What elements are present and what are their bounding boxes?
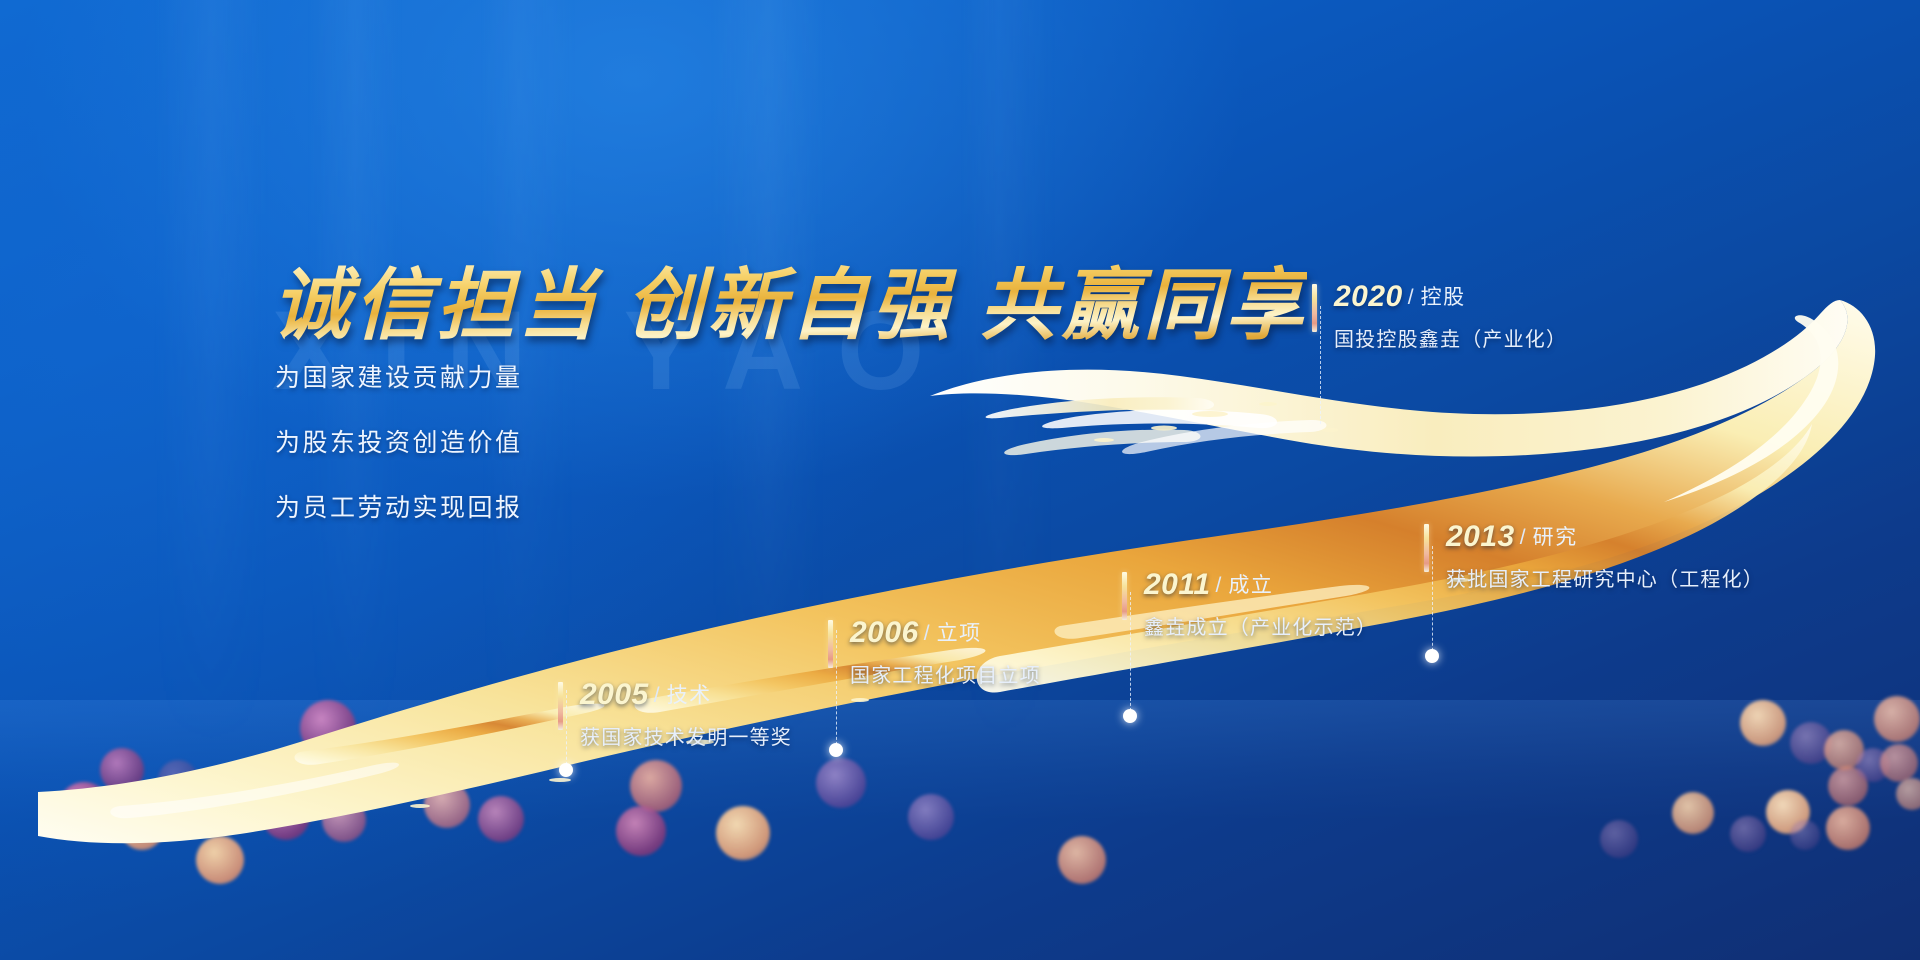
swoosh-upper-tip-fray bbox=[1042, 410, 1277, 429]
milestone-heading: 2011/成立 bbox=[1144, 570, 1377, 600]
bokeh-dot bbox=[616, 806, 666, 856]
slogan-list: 为国家建设贡献力量 为股东投资创造价值 为员工劳动实现回报 bbox=[275, 358, 523, 524]
bokeh-dot bbox=[1896, 778, 1920, 810]
bokeh-dot bbox=[716, 806, 770, 860]
swoosh-upper-tip-fray bbox=[986, 397, 1214, 418]
milestone-kind: 成立 bbox=[1228, 574, 1273, 597]
bokeh-dot bbox=[1730, 816, 1766, 852]
bokeh-dot bbox=[450, 742, 492, 784]
milestone-accent-bar bbox=[1122, 572, 1127, 620]
bokeh-dot bbox=[1824, 730, 1864, 770]
bokeh-dot bbox=[322, 798, 366, 842]
bokeh-dot bbox=[330, 738, 384, 792]
milestone-accent-bar bbox=[1312, 284, 1317, 332]
milestone-separator: / bbox=[924, 622, 930, 645]
swoosh-loop-highlight bbox=[1664, 315, 1838, 502]
milestone-description: 国家工程化项目立项 bbox=[850, 659, 1041, 688]
milestone-kind: 技术 bbox=[667, 684, 712, 707]
milestone-description: 鑫垚成立（产业化示范） bbox=[1144, 611, 1377, 640]
page-title: 诚信担当 创新自强 共赢同享 bbox=[272, 243, 1307, 355]
milestone-accent-bar bbox=[828, 620, 833, 668]
milestone-separator: / bbox=[1408, 286, 1414, 309]
milestone-heading: 2006/立项 bbox=[850, 618, 1041, 648]
milestone-2020[interactable]: 2020/控股 国投控股鑫垚（产业化） bbox=[1312, 282, 1567, 352]
timeline-marker-dot bbox=[1123, 709, 1137, 723]
milestone-description: 获批国家工程研究中心（工程化） bbox=[1446, 563, 1764, 592]
bokeh-dot bbox=[1766, 790, 1810, 834]
bokeh-dot bbox=[1874, 696, 1920, 742]
bokeh-dot bbox=[1600, 820, 1638, 858]
milestone-text-block: 2006/立项 国家工程化项目立项 bbox=[850, 618, 1041, 688]
timeline-marker-dot bbox=[829, 743, 843, 757]
bokeh-dot bbox=[1826, 806, 1870, 850]
milestone-description: 获国家技术发明一等奖 bbox=[580, 721, 792, 750]
milestone-text-block: 2013/研究 获批国家工程研究中心（工程化） bbox=[1446, 522, 1764, 592]
milestone-separator: / bbox=[654, 684, 660, 707]
timeline-marker-dot bbox=[1425, 649, 1439, 663]
swoosh-upper-tip-fray bbox=[1122, 420, 1326, 454]
bokeh-dot bbox=[478, 796, 524, 842]
bokeh-dot bbox=[300, 700, 356, 756]
slogan-line: 为股东投资创造价值 bbox=[275, 423, 523, 459]
milestone-heading: 2013/研究 bbox=[1446, 522, 1764, 552]
bokeh-dot bbox=[1880, 744, 1918, 782]
bokeh-dot bbox=[262, 792, 310, 840]
bokeh-dot bbox=[158, 760, 198, 800]
milestone-year: 2020 bbox=[1334, 280, 1403, 313]
milestone-heading: 2005/技术 bbox=[580, 680, 792, 710]
milestone-year: 2005 bbox=[580, 678, 649, 711]
milestone-year: 2013 bbox=[1446, 520, 1515, 553]
bokeh-dot bbox=[630, 760, 682, 812]
banner-stage: XIN YAO 诚信担当 创新自强 共赢同享 为国家建设贡献力量 为股东投资创造… bbox=[0, 0, 1920, 960]
bokeh-dot bbox=[1672, 792, 1714, 834]
milestone-accent-bar bbox=[1424, 524, 1429, 572]
milestone-text-block: 2020/控股 国投控股鑫垚（产业化） bbox=[1334, 282, 1567, 352]
milestone-2005[interactable]: 2005/技术 获国家技术发明一等奖 bbox=[558, 680, 792, 750]
milestone-text-block: 2011/成立 鑫垚成立（产业化示范） bbox=[1144, 570, 1377, 640]
milestone-text-block: 2005/技术 获国家技术发明一等奖 bbox=[580, 680, 792, 750]
bokeh-dot bbox=[196, 836, 244, 884]
slogan-line: 为国家建设贡献力量 bbox=[275, 358, 523, 394]
milestone-year: 2006 bbox=[850, 616, 919, 649]
bokeh-dot bbox=[1790, 820, 1820, 850]
bokeh-dot bbox=[1856, 748, 1890, 782]
bokeh-dot bbox=[58, 782, 110, 834]
bokeh-dot bbox=[1828, 766, 1868, 806]
bokeh-dot bbox=[908, 794, 954, 840]
slogan-line: 为员工劳动实现回报 bbox=[275, 488, 523, 524]
milestone-year: 2011 bbox=[1144, 568, 1211, 601]
milestone-kind: 立项 bbox=[937, 622, 982, 645]
milestone-separator: / bbox=[1216, 574, 1222, 597]
milestone-2011[interactable]: 2011/成立 鑫垚成立（产业化示范） bbox=[1122, 570, 1377, 640]
milestone-2013[interactable]: 2013/研究 获批国家工程研究中心（工程化） bbox=[1424, 522, 1764, 592]
milestone-description: 国投控股鑫垚（产业化） bbox=[1334, 323, 1567, 352]
bokeh-dot bbox=[100, 748, 144, 792]
swoosh-lower-fray bbox=[110, 763, 399, 819]
bokeh-dot bbox=[120, 806, 164, 850]
milestone-accent-bar bbox=[558, 682, 563, 730]
milestone-kind: 研究 bbox=[1533, 526, 1578, 549]
swoosh-upper-tip-fray bbox=[1004, 430, 1200, 456]
milestone-2006[interactable]: 2006/立项 国家工程化项目立项 bbox=[828, 618, 1041, 688]
timeline-marker-dot bbox=[559, 763, 573, 777]
bokeh-dot bbox=[424, 782, 470, 828]
bokeh-dot bbox=[1058, 836, 1106, 884]
bokeh-dot bbox=[1790, 722, 1832, 764]
bokeh-dot bbox=[816, 758, 866, 808]
bokeh-dot bbox=[1740, 700, 1786, 746]
milestone-kind: 控股 bbox=[1421, 286, 1466, 309]
milestone-separator: / bbox=[1520, 526, 1526, 549]
background-horizon-band bbox=[0, 700, 1920, 820]
milestone-heading: 2020/控股 bbox=[1334, 282, 1567, 312]
